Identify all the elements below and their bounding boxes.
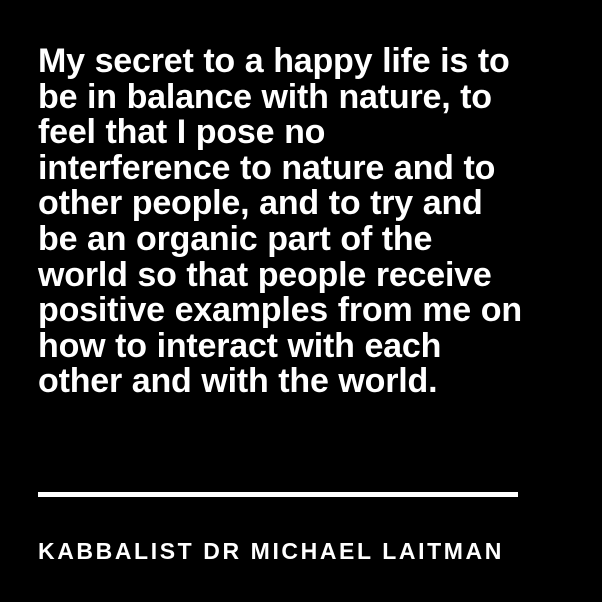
quote-text: My secret to a happy life is to be in ba…: [38, 44, 574, 400]
quote-card: My secret to a happy life is to be in ba…: [0, 0, 602, 602]
quote-body: My secret to a happy life is to be in ba…: [38, 44, 574, 400]
attribution-author-name: KABBALIST DR MICHAEL LAITMAN: [38, 538, 574, 564]
attribution-block: KABBALIST DR MICHAEL LAITMAN: [38, 492, 574, 564]
divider-rule: [38, 492, 518, 497]
